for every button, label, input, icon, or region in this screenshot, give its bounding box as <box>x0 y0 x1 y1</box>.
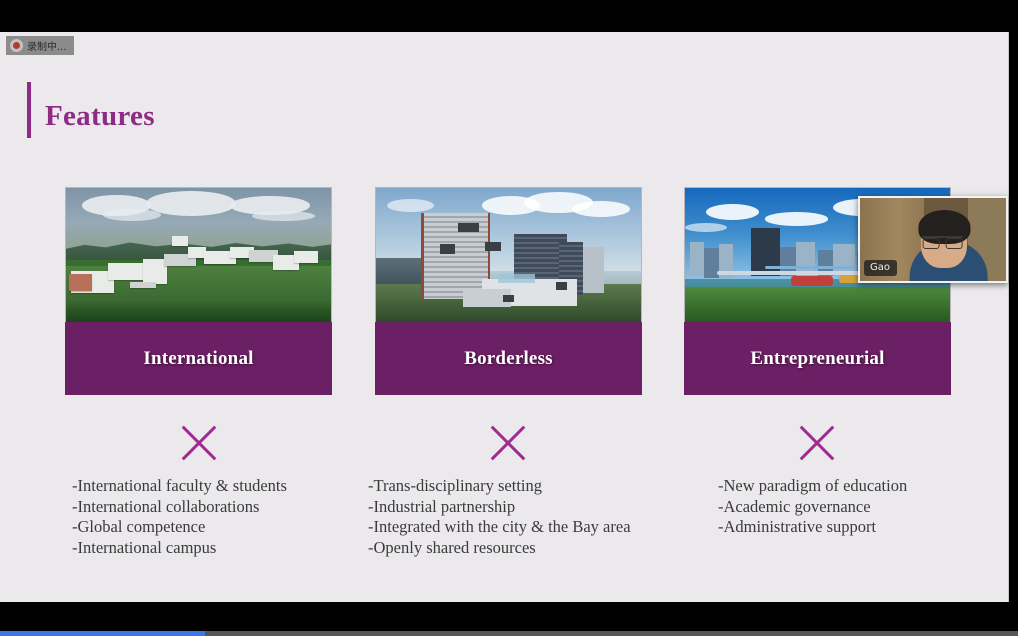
list-item: -Administrative support <box>718 517 1009 538</box>
card-title-label: International <box>143 348 253 370</box>
list-item: -International collaborations <box>72 497 402 518</box>
slide-right-edge <box>1008 32 1009 602</box>
progress-bar-fill <box>0 631 205 636</box>
list-item: -International faculty & students <box>72 476 402 497</box>
video-tile-self[interactable]: Gao <box>858 196 1008 283</box>
record-dot-icon <box>10 39 23 52</box>
title-accent-bar <box>27 82 31 138</box>
list-item: -Industrial partnership <box>368 497 698 518</box>
x-cross-icon <box>794 420 840 466</box>
feature-card-international[interactable]: International <box>65 187 332 395</box>
x-cross-icon <box>485 420 531 466</box>
list-item: -Academic governance <box>718 497 1009 518</box>
list-item: -Integrated with the city & the Bay area <box>368 517 698 538</box>
progress-bar-track[interactable] <box>0 631 1018 636</box>
presentation-slide: Features <box>0 32 1009 602</box>
list-item: -Trans-disciplinary setting <box>368 476 698 497</box>
card-title-band: Entrepreneurial <box>684 322 951 395</box>
feature-bullets-borderless: -Trans-disciplinary setting -Industrial … <box>368 476 698 558</box>
feature-bullets-entrepreneurial: -New paradigm of education -Academic gov… <box>718 476 1009 538</box>
card-title-label: Entrepreneurial <box>750 348 884 370</box>
list-item: -New paradigm of education <box>718 476 1009 497</box>
modern-building-rendering-photo <box>375 187 642 322</box>
list-item: -Global competence <box>72 517 402 538</box>
list-item: -Openly shared resources <box>368 538 698 559</box>
feature-bullets-international: -International faculty & students -Inter… <box>72 476 402 558</box>
card-title-band: International <box>65 322 332 395</box>
x-cross-icon <box>176 420 222 466</box>
page-title: Features <box>45 100 155 133</box>
participant-glasses <box>923 236 963 245</box>
recording-indicator[interactable]: 录制中... <box>6 36 74 55</box>
feature-card-borderless[interactable]: Borderless <box>375 187 642 395</box>
participant-name-label: Gao <box>864 260 897 276</box>
card-title-label: Borderless <box>464 348 553 370</box>
list-item: -International campus <box>72 538 402 559</box>
recording-label: 录制中... <box>27 38 67 53</box>
card-title-band: Borderless <box>375 322 642 395</box>
screen-root: Features <box>0 0 1018 636</box>
aerial-campus-photo <box>65 187 332 322</box>
